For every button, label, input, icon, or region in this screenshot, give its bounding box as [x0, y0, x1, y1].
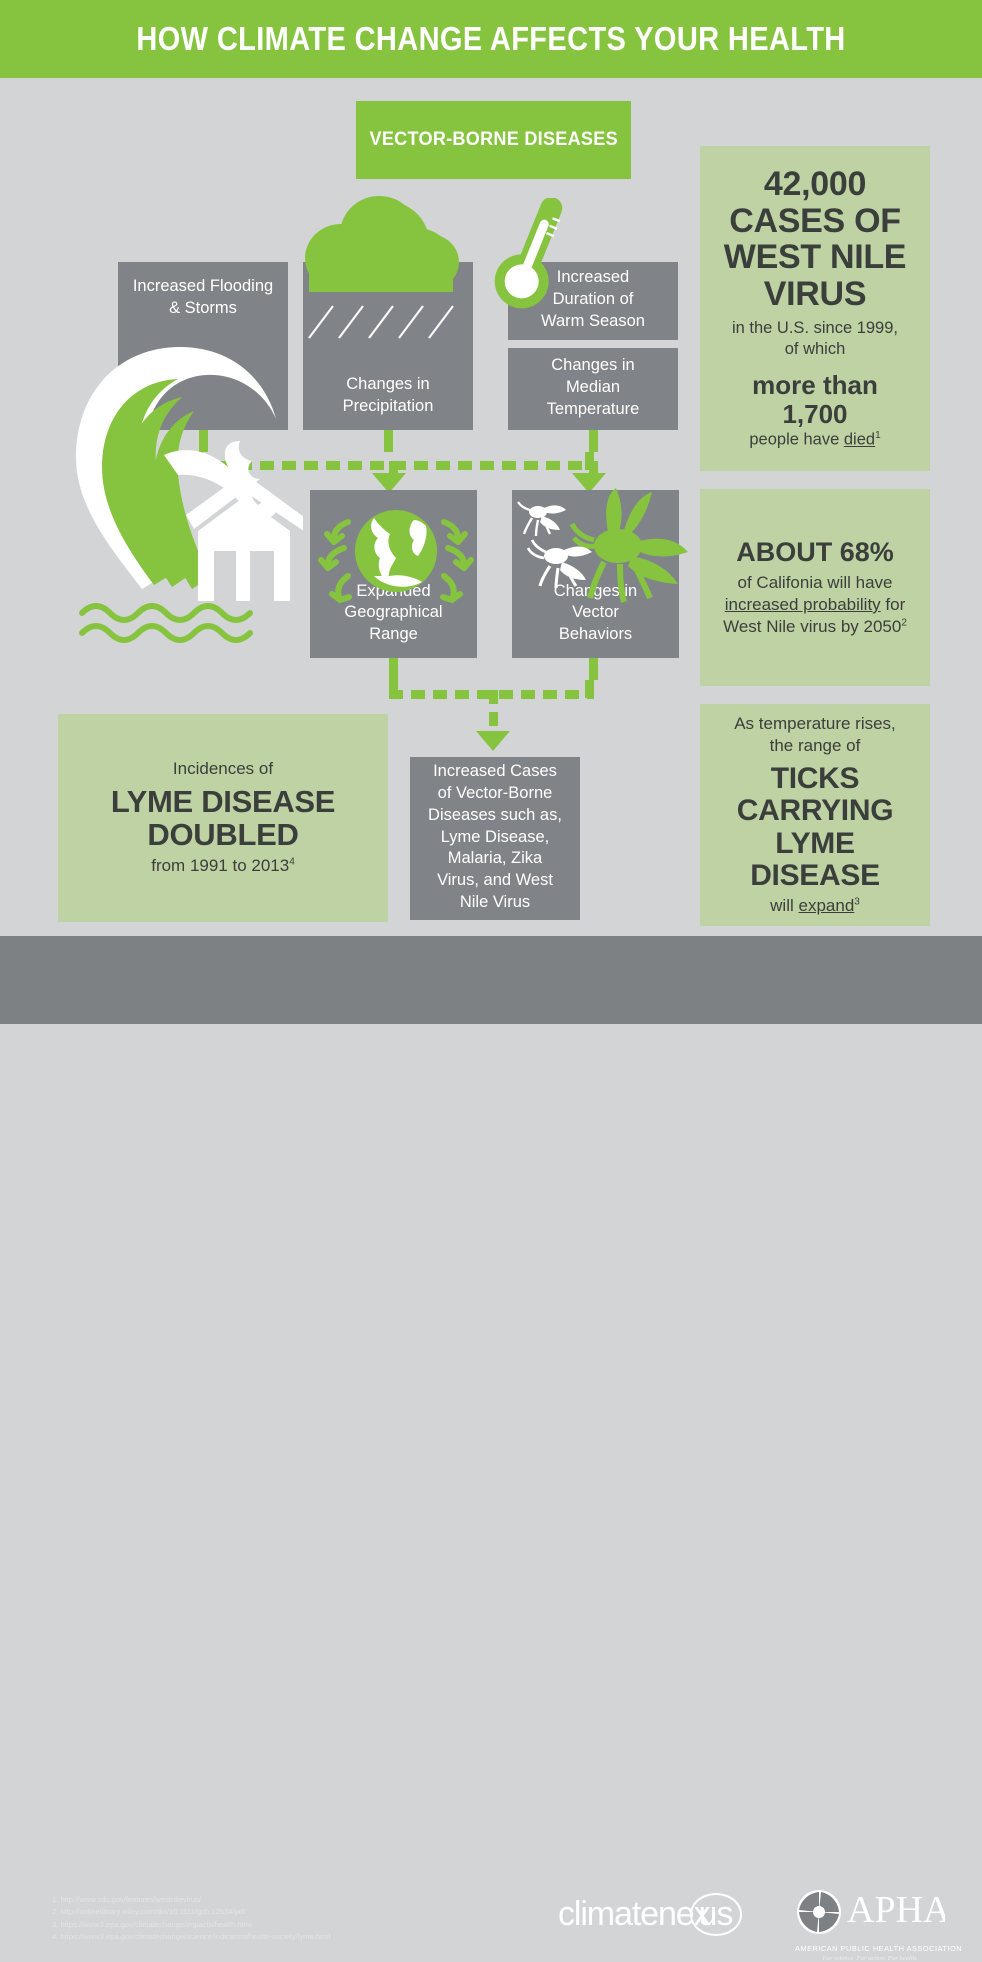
tick-footnote-line: will expand3 [770, 895, 860, 917]
apha-tagline: For science. For action. For health. [795, 1955, 945, 1962]
ca-headline: ABOUT 68% [736, 537, 894, 567]
connector-bus-bottom-right-corner [585, 680, 594, 698]
lyme-ref-marker: 4 [289, 857, 295, 868]
georange-line3: Range [369, 625, 418, 643]
section-banner-label: VECTOR-BORNE DISEASES [369, 129, 617, 151]
lyme-big-line1: LYME DISEASE [111, 785, 335, 818]
connector-stub-vector-bottom [589, 658, 598, 680]
warm-line1: Increased [557, 268, 629, 286]
footer-bar: 1. http://www.cdc.gov/features/westnilev… [0, 936, 982, 1024]
connector-stub-temp [589, 430, 598, 452]
source-item-1[interactable]: 1. http://www.cdc.gov/features/westnilev… [52, 1894, 472, 1906]
warm-line3: Warm Season [541, 312, 645, 330]
outcome-line7: Nile Virus [460, 893, 530, 911]
tick-intro-line1: As temperature rises, [734, 713, 896, 735]
wnv-ref-marker: 1 [875, 430, 881, 441]
median-line1: Changes in [551, 356, 634, 374]
stat-panel-west-nile-virus: 42,000 CASES OF WEST NILE VIRUS in the U… [700, 146, 930, 471]
stat-panel-lyme-disease: Incidences of LYME DISEASE DOUBLED from … [58, 714, 388, 922]
connector-stub-georange-bottom [389, 658, 398, 680]
flow-box-warm-season-label: Increased Duration of Warm Season [516, 267, 670, 332]
source-item-4[interactable]: 4. https://www3.epa.gov/climatechange/sc… [52, 1931, 472, 1943]
wnv-footnote-line: people have died1 [749, 429, 880, 451]
ca-ref-marker: 2 [901, 618, 907, 629]
warm-line2: Duration of [553, 290, 634, 308]
apha-logo[interactable]: APHA AMERICAN PUBLIC HEALTH ASSOCIATION … [795, 1884, 945, 1954]
source-item-2[interactable]: 2. http://onlinelibrary.wiley.com/doi/10… [52, 1906, 472, 1918]
flow-box-flooding-label: Increased Flooding & Storms [126, 276, 280, 320]
ca-headline-pre: ABOUT [736, 537, 840, 567]
lyme-footnote-line: from 1991 to 20134 [151, 855, 295, 877]
tick-big-line1: TICKS [771, 763, 860, 795]
outcome-line4: Lyme Disease, [441, 828, 550, 846]
wnv-big-line4: VIRUS [764, 276, 866, 313]
tick-big-line3: LYME DISEASE [716, 828, 914, 893]
wnv-mid-line1: more than [752, 371, 878, 400]
apha-pinwheel-icon: APHA [795, 1884, 945, 1942]
tick-ref-marker: 3 [854, 897, 860, 908]
sources-list: 1. http://www.cdc.gov/features/westnilev… [52, 1894, 472, 1943]
wnv-mid-line2: 1,700 [782, 400, 847, 429]
wnv-big-line3: WEST NILE [724, 239, 906, 276]
wnv-sub-line2: of which [785, 339, 846, 360]
lyme-footnote-text: from 1991 to 2013 [151, 856, 289, 875]
connector-stub-precip [384, 430, 393, 452]
section-banner: VECTOR-BORNE DISEASES [356, 101, 631, 179]
infographic-canvas: HOW CLIMATE CHANGE AFFECTS YOUR HEALTH V… [0, 0, 982, 1024]
flow-box-warm-season[interactable]: Increased Duration of Warm Season [508, 262, 678, 340]
connector-bus-bottom-left-corner [389, 680, 398, 698]
wnv-big-line2: CASES OF [729, 203, 900, 240]
precip-line1: Changes in [346, 375, 429, 393]
outcome-line2: of Vector-Borne [438, 784, 553, 802]
precip-line2: Precipitation [343, 397, 434, 415]
wnv-footnote-text: people have [749, 431, 844, 449]
outcome-line3: Diseases such as, [428, 806, 562, 824]
ca-line3-text: West Nile virus by 2050 [723, 617, 901, 636]
wnv-big-line1: 42,000 [764, 166, 866, 203]
ca-line3: West Nile virus by 20502 [723, 616, 907, 638]
ca-headline-number: 68% [840, 537, 894, 567]
outcome-line1: Increased Cases [433, 762, 557, 780]
ca-line2-post: for [881, 595, 906, 614]
climatenexus-logo-ring: us [690, 1893, 743, 1936]
climatenexus-logo-text: climatenex [558, 1895, 710, 1933]
outcome-line5: Malaria, Zika [448, 849, 542, 867]
ca-line1: of Califonia will have [738, 572, 893, 594]
apha-wordmark: APHA [847, 1889, 945, 1931]
flow-box-increased-cases-label: Increased Cases of Vector-Borne Diseases… [418, 761, 572, 913]
flooding-line2: & Storms [169, 299, 237, 317]
tick-expand-link[interactable]: expand [799, 896, 855, 915]
flood-wave-house-icon [68, 345, 303, 650]
stat-panel-california: ABOUT 68% of Califonia will have increas… [700, 489, 930, 686]
globe-expanding-arrows-icon [316, 496, 476, 606]
source-item-3[interactable]: 3. https://www3.epa.gov/climatechange/im… [52, 1919, 472, 1931]
georange-line2: Geographical [344, 603, 442, 621]
lyme-intro: Incidences of [173, 758, 273, 780]
tick-intro-line2: the range of [770, 735, 861, 757]
ca-line2: increased probability for [725, 594, 905, 616]
flow-box-precipitation-label: Changes in Precipitation [311, 374, 465, 418]
rain-streaks-icon [303, 292, 473, 372]
median-line2: Median [566, 378, 620, 396]
connector-arrow-outcome [476, 731, 510, 751]
tick-big-line2: CARRYING [737, 795, 894, 827]
mosquito-icon [508, 484, 693, 614]
rain-cloud-icon [263, 196, 463, 292]
tick-footnote-text: will [770, 896, 798, 915]
outcome-line6: Virus, and West [437, 871, 553, 889]
stat-panel-ticks: As temperature rises, the range of TICKS… [700, 704, 930, 926]
connector-down-outcome [489, 690, 498, 735]
lyme-big-line2: DOUBLED [147, 818, 298, 851]
climatenexus-logo[interactable]: climatenexus [558, 1893, 742, 1936]
flow-box-increased-cases[interactable]: Increased Cases of Vector-Borne Diseases… [410, 757, 580, 920]
wnv-died-link[interactable]: died [844, 431, 875, 449]
flooding-line1: Increased Flooding [133, 277, 273, 295]
flow-box-median-temperature[interactable]: Changes in Median Temperature [508, 348, 678, 430]
header-bar: HOW CLIMATE CHANGE AFFECTS YOUR HEALTH [0, 0, 982, 78]
vector-line3: Behaviors [559, 625, 632, 643]
page-title: HOW CLIMATE CHANGE AFFECTS YOUR HEALTH [59, 0, 923, 78]
wnv-sub-line1: in the U.S. since 1999, [732, 318, 898, 339]
median-line3: Temperature [547, 400, 640, 418]
apha-full-name: AMERICAN PUBLIC HEALTH ASSOCIATION [795, 1944, 945, 1953]
flow-box-median-temperature-label: Changes in Median Temperature [516, 355, 670, 420]
ca-probability-link[interactable]: increased probability [725, 595, 881, 614]
